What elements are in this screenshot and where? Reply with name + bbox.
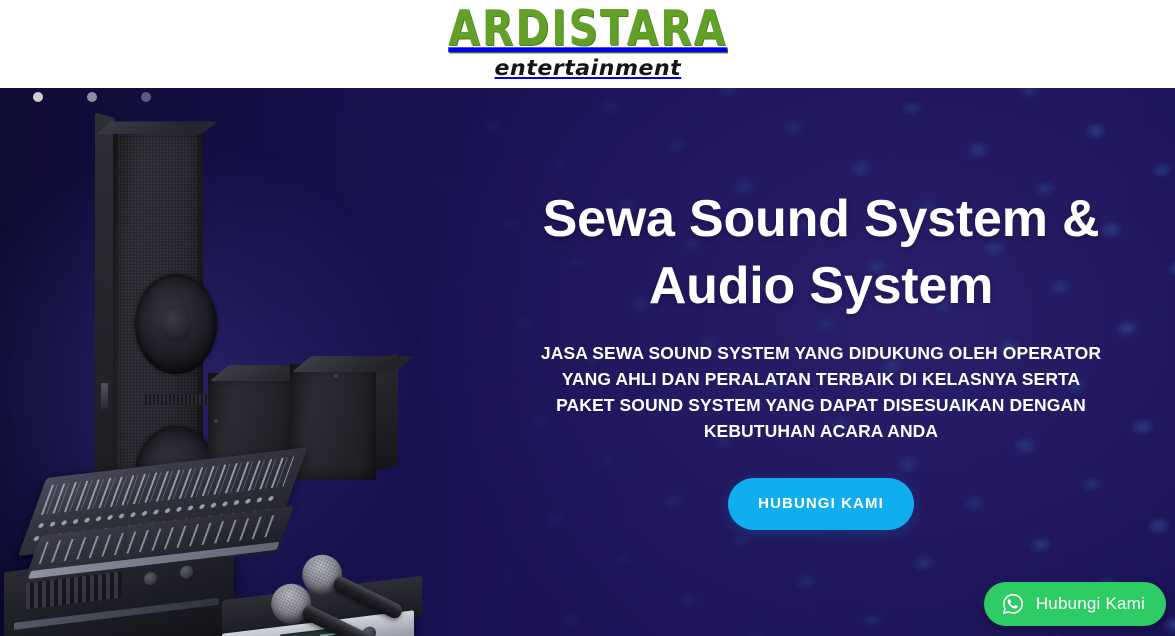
hubungi-kami-button[interactable]: HUBUNGI KAMI: [728, 478, 914, 530]
mixing-console-icon: [18, 478, 278, 608]
carousel-pagination[interactable]: [33, 92, 151, 102]
whatsapp-floating-button[interactable]: Hubungi Kami: [984, 582, 1166, 626]
carousel-dot-3[interactable]: [141, 92, 151, 102]
whatsapp-label: Hubungi Kami: [1036, 594, 1145, 614]
subwoofer-cabinet-icon: [290, 350, 400, 478]
whatsapp-icon: [1001, 592, 1025, 616]
site-header: ARDISTARA entertainment: [0, 0, 1175, 88]
carousel-dot-1[interactable]: [33, 92, 43, 102]
carousel-dot-2[interactable]: [87, 92, 97, 102]
hero-content: Sewa Sound System & Audio System JASA SE…: [498, 88, 1144, 636]
site-logo[interactable]: ARDISTARA entertainment: [451, 9, 725, 79]
logo-tagline: entertainment: [494, 58, 681, 79]
hero-title: Sewa Sound System & Audio System: [521, 186, 1121, 319]
hero-subtitle: JASA SEWA SOUND SYSTEM YANG DIDUKUNG OLE…: [536, 341, 1106, 445]
sound-system-equipment-image: PROFESSIONALWIRELESS MICROPHONE: [0, 88, 430, 636]
hero-banner: PROFESSIONALWIRELESS MICROPHONE Sewa Sou…: [0, 88, 1175, 636]
logo-wordmark: ARDISTARA: [448, 5, 727, 54]
